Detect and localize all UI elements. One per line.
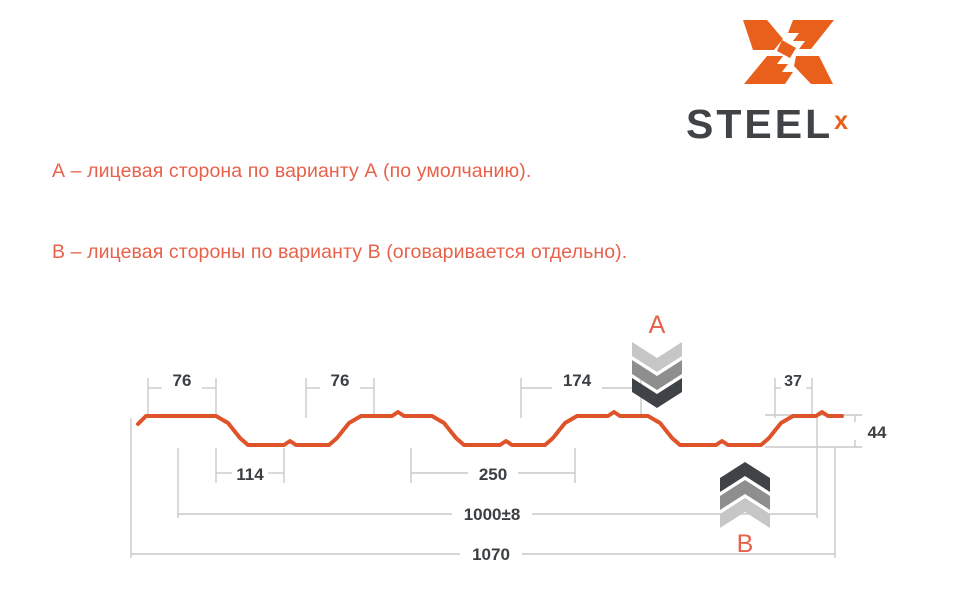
marker-variant-a: A <box>632 311 682 408</box>
dim-total-width: 1070 <box>472 545 510 564</box>
profile-cross-section-line <box>138 412 842 445</box>
dim-edge-width: 37 <box>784 373 802 390</box>
dim-crest-width-left: 76 <box>173 371 192 390</box>
wordmark-steel: STEEL <box>686 104 833 145</box>
dim-crest-width-mid: 76 <box>331 371 350 390</box>
dimension-labels: 76 76 174 37 114 250 44 1000±8 1070 <box>173 371 887 564</box>
dim-height: 44 <box>868 423 887 442</box>
marker-a-letter: A <box>649 311 666 339</box>
dim-trough-width: 114 <box>236 465 264 484</box>
steelx-x-mark-icon <box>741 18 836 92</box>
dim-rib-spacing: 174 <box>563 371 592 390</box>
dim-pitch: 250 <box>479 465 507 484</box>
caption-variant-b: В – лицевая стороны по варианту В (огова… <box>52 241 627 264</box>
profile-cross-section-diagram: 76 76 174 37 114 250 44 1000±8 1070 A B <box>0 290 970 590</box>
steelx-wordmark: STEEL x <box>686 104 916 144</box>
marker-variant-b: B <box>720 462 770 558</box>
steelx-logo: STEEL x <box>686 18 916 144</box>
marker-b-letter: B <box>737 530 754 558</box>
caption-variant-a: А – лицевая сторона по варианту А (по ум… <box>52 160 531 183</box>
profile-spec-sheet: STEEL x А – лицевая сторона по варианту … <box>0 0 970 597</box>
dim-effective-width: 1000±8 <box>464 505 521 524</box>
wordmark-superscript-x: x <box>834 109 848 134</box>
